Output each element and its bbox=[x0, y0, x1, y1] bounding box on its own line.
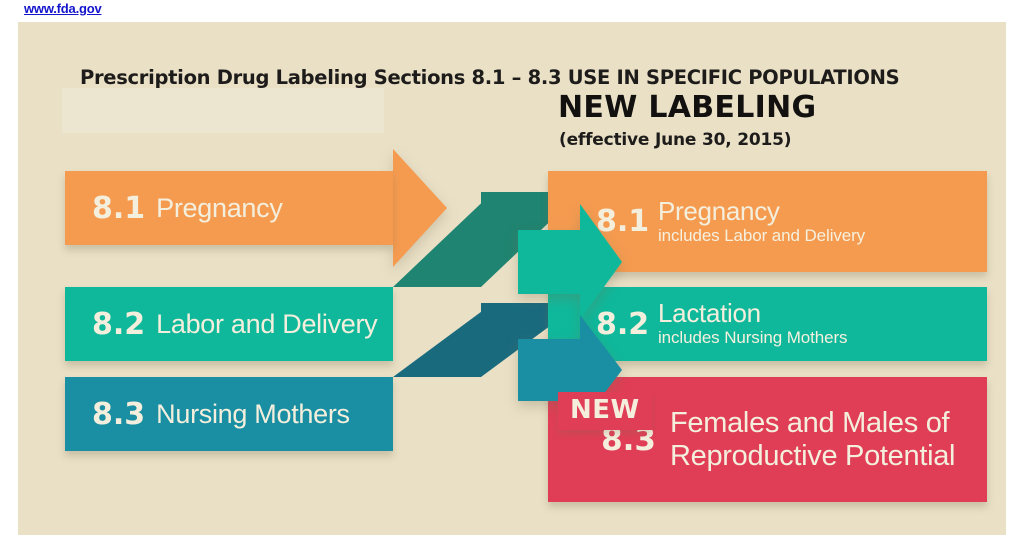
old-section-82[interactable]: 8.2 Labor and Delivery bbox=[65, 287, 393, 361]
old-section-81-label: Pregnancy bbox=[156, 193, 282, 224]
new-section-82-text: Lactation includes Nursing Mothers bbox=[658, 300, 847, 348]
old-section-81-number: 8.1 bbox=[92, 191, 145, 226]
fda-source-link[interactable]: www.fda.gov bbox=[24, 1, 102, 16]
new-section-82-subtitle: includes Nursing Mothers bbox=[658, 328, 847, 347]
old-section-81[interactable]: 8.1 Pregnancy bbox=[65, 171, 393, 245]
new-section-81-title: Pregnancy bbox=[658, 196, 780, 226]
new-section-81-text: Pregnancy includes Labor and Delivery bbox=[658, 198, 865, 246]
new-section-83-title-line2: Reproductive Potential bbox=[670, 440, 955, 472]
new-section-83-title: Females and Males of bbox=[670, 407, 949, 439]
old-section-83-number: 8.3 bbox=[92, 397, 145, 432]
old-section-82-label: Labor and Delivery bbox=[156, 309, 377, 340]
old-section-82-number: 8.2 bbox=[92, 307, 145, 342]
old-section-83[interactable]: 8.3 Nursing Mothers bbox=[65, 377, 393, 451]
new-section-83-text: Females and Males of Reproductive Potent… bbox=[670, 407, 955, 473]
new-section-81-subtitle: includes Labor and Delivery bbox=[658, 226, 865, 245]
new-section-82-title: Lactation bbox=[658, 298, 761, 328]
old-section-83-label: Nursing Mothers bbox=[156, 399, 350, 430]
infographic-poster: Prescription Drug Labeling Sections 8.1 … bbox=[18, 22, 1006, 535]
teal-arrow-icon bbox=[518, 204, 622, 320]
new-badge: NEW bbox=[558, 392, 652, 430]
